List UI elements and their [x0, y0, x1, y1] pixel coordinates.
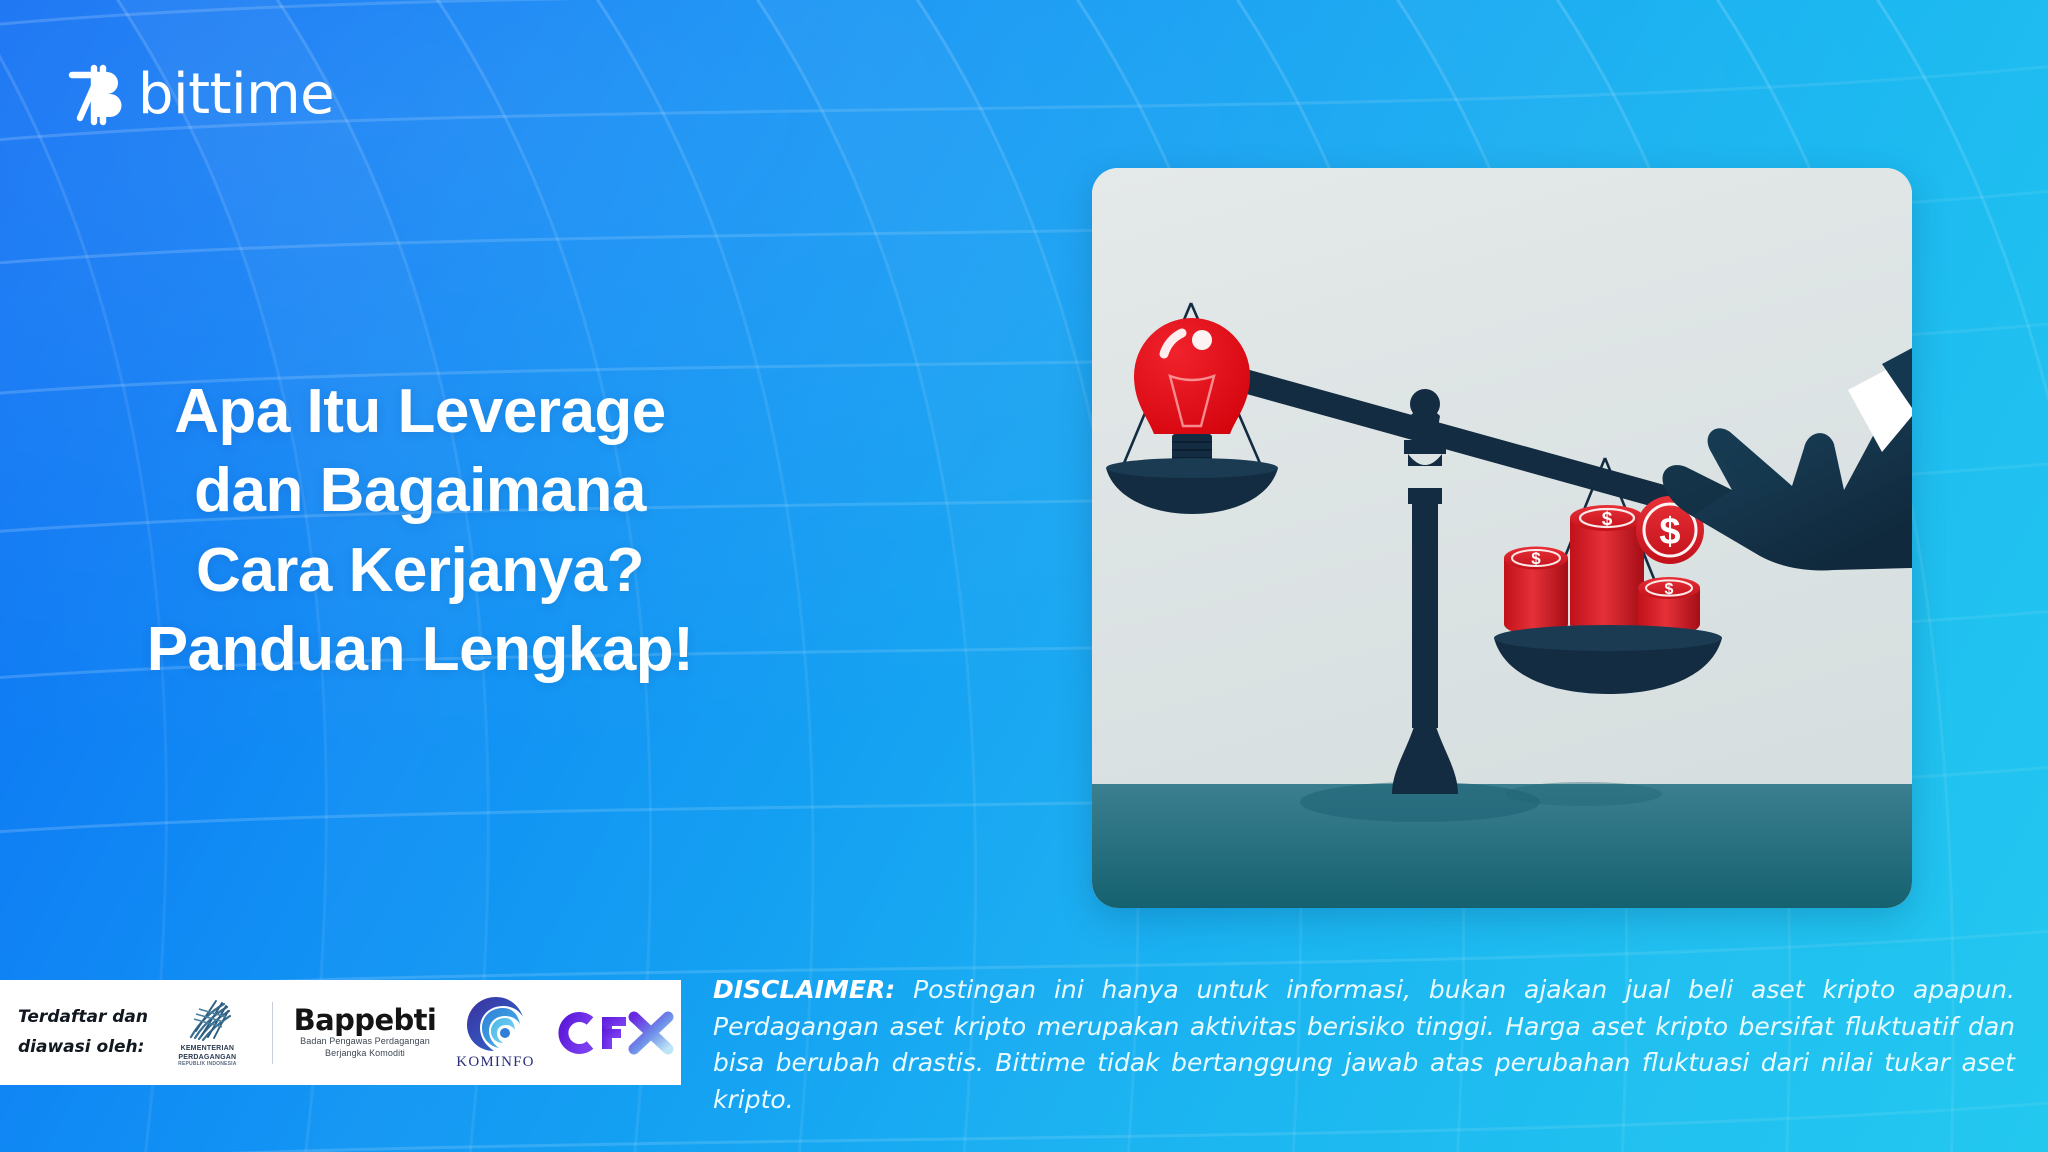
- bappebti-sub-line-2: Berjangka Komoditi: [325, 1047, 405, 1059]
- bittime-wordmark: bittime: [138, 67, 334, 123]
- badge-cfx: [554, 1009, 681, 1057]
- headline-line-2: dan Bagaimana: [0, 451, 840, 530]
- disclaimer-body: Postingan ini hanya untuk informasi, buk…: [713, 975, 2015, 1114]
- kemendag-label-line-3: REPUBLIK INDONESIA: [178, 1062, 236, 1068]
- bappebti-sub-line-1: Badan Pengawas Perdagangan: [300, 1035, 430, 1047]
- badge-kominfo: KOMINFO: [447, 995, 543, 1071]
- coin-stack-center: $: [1570, 505, 1644, 636]
- disclaimer-text: DISCLAIMER: Postingan ini hanya untuk in…: [713, 972, 2015, 1118]
- svg-text:$: $: [1665, 581, 1674, 598]
- svg-text:$: $: [1531, 549, 1541, 568]
- bittime-logo[interactable]: bittime: [66, 62, 334, 128]
- badge-bappebti: Bappebti Badan Pengawas Perdagangan Berj…: [293, 1006, 438, 1059]
- headline-line-1: Apa Itu Leverage: [0, 372, 840, 451]
- headline-line-4: Panduan Lengkap!: [0, 610, 840, 689]
- illustration-card: $ $ $ $: [1092, 168, 1912, 908]
- badge-intro-line-2: diawasi oleh:: [18, 1033, 153, 1063]
- bappebti-title: Bappebti: [294, 1006, 437, 1035]
- kemendag-label-line-1: KEMENTERIAN: [178, 1045, 236, 1053]
- svg-text:$: $: [1659, 511, 1680, 553]
- kemendag-label: KEMENTERIAN PERDAGANGAN REPUBLIK INDONES…: [178, 1045, 236, 1067]
- badge-intro-line-1: Terdaftar dan: [18, 1003, 153, 1033]
- svg-text:$: $: [1602, 509, 1613, 530]
- disclaimer-label: DISCLAIMER:: [713, 975, 895, 1004]
- kominfo-logo-icon: [465, 995, 527, 1053]
- kemendag-logo-icon: [182, 997, 232, 1043]
- kominfo-label: KOMINFO: [456, 1054, 534, 1071]
- bittime-b-icon: [66, 62, 122, 128]
- headline-line-3: Cara Kerjanya?: [0, 531, 840, 610]
- badge-divider: [272, 1002, 273, 1064]
- cfx-logo-icon: [556, 1009, 678, 1057]
- badge-kemendag: KEMENTERIAN PERDAGANGAN REPUBLIK INDONES…: [163, 997, 252, 1067]
- page-title: Apa Itu Leverage dan Bagaimana Cara Kerj…: [0, 372, 840, 689]
- coin-stack-left: $: [1504, 547, 1568, 636]
- balance-scale-illustration: $ $ $ $: [1092, 168, 1912, 908]
- badge-intro-text: Terdaftar dan diawasi oleh:: [18, 1003, 153, 1063]
- regulator-badge-bar: Terdaftar dan diawasi oleh:: [0, 980, 681, 1085]
